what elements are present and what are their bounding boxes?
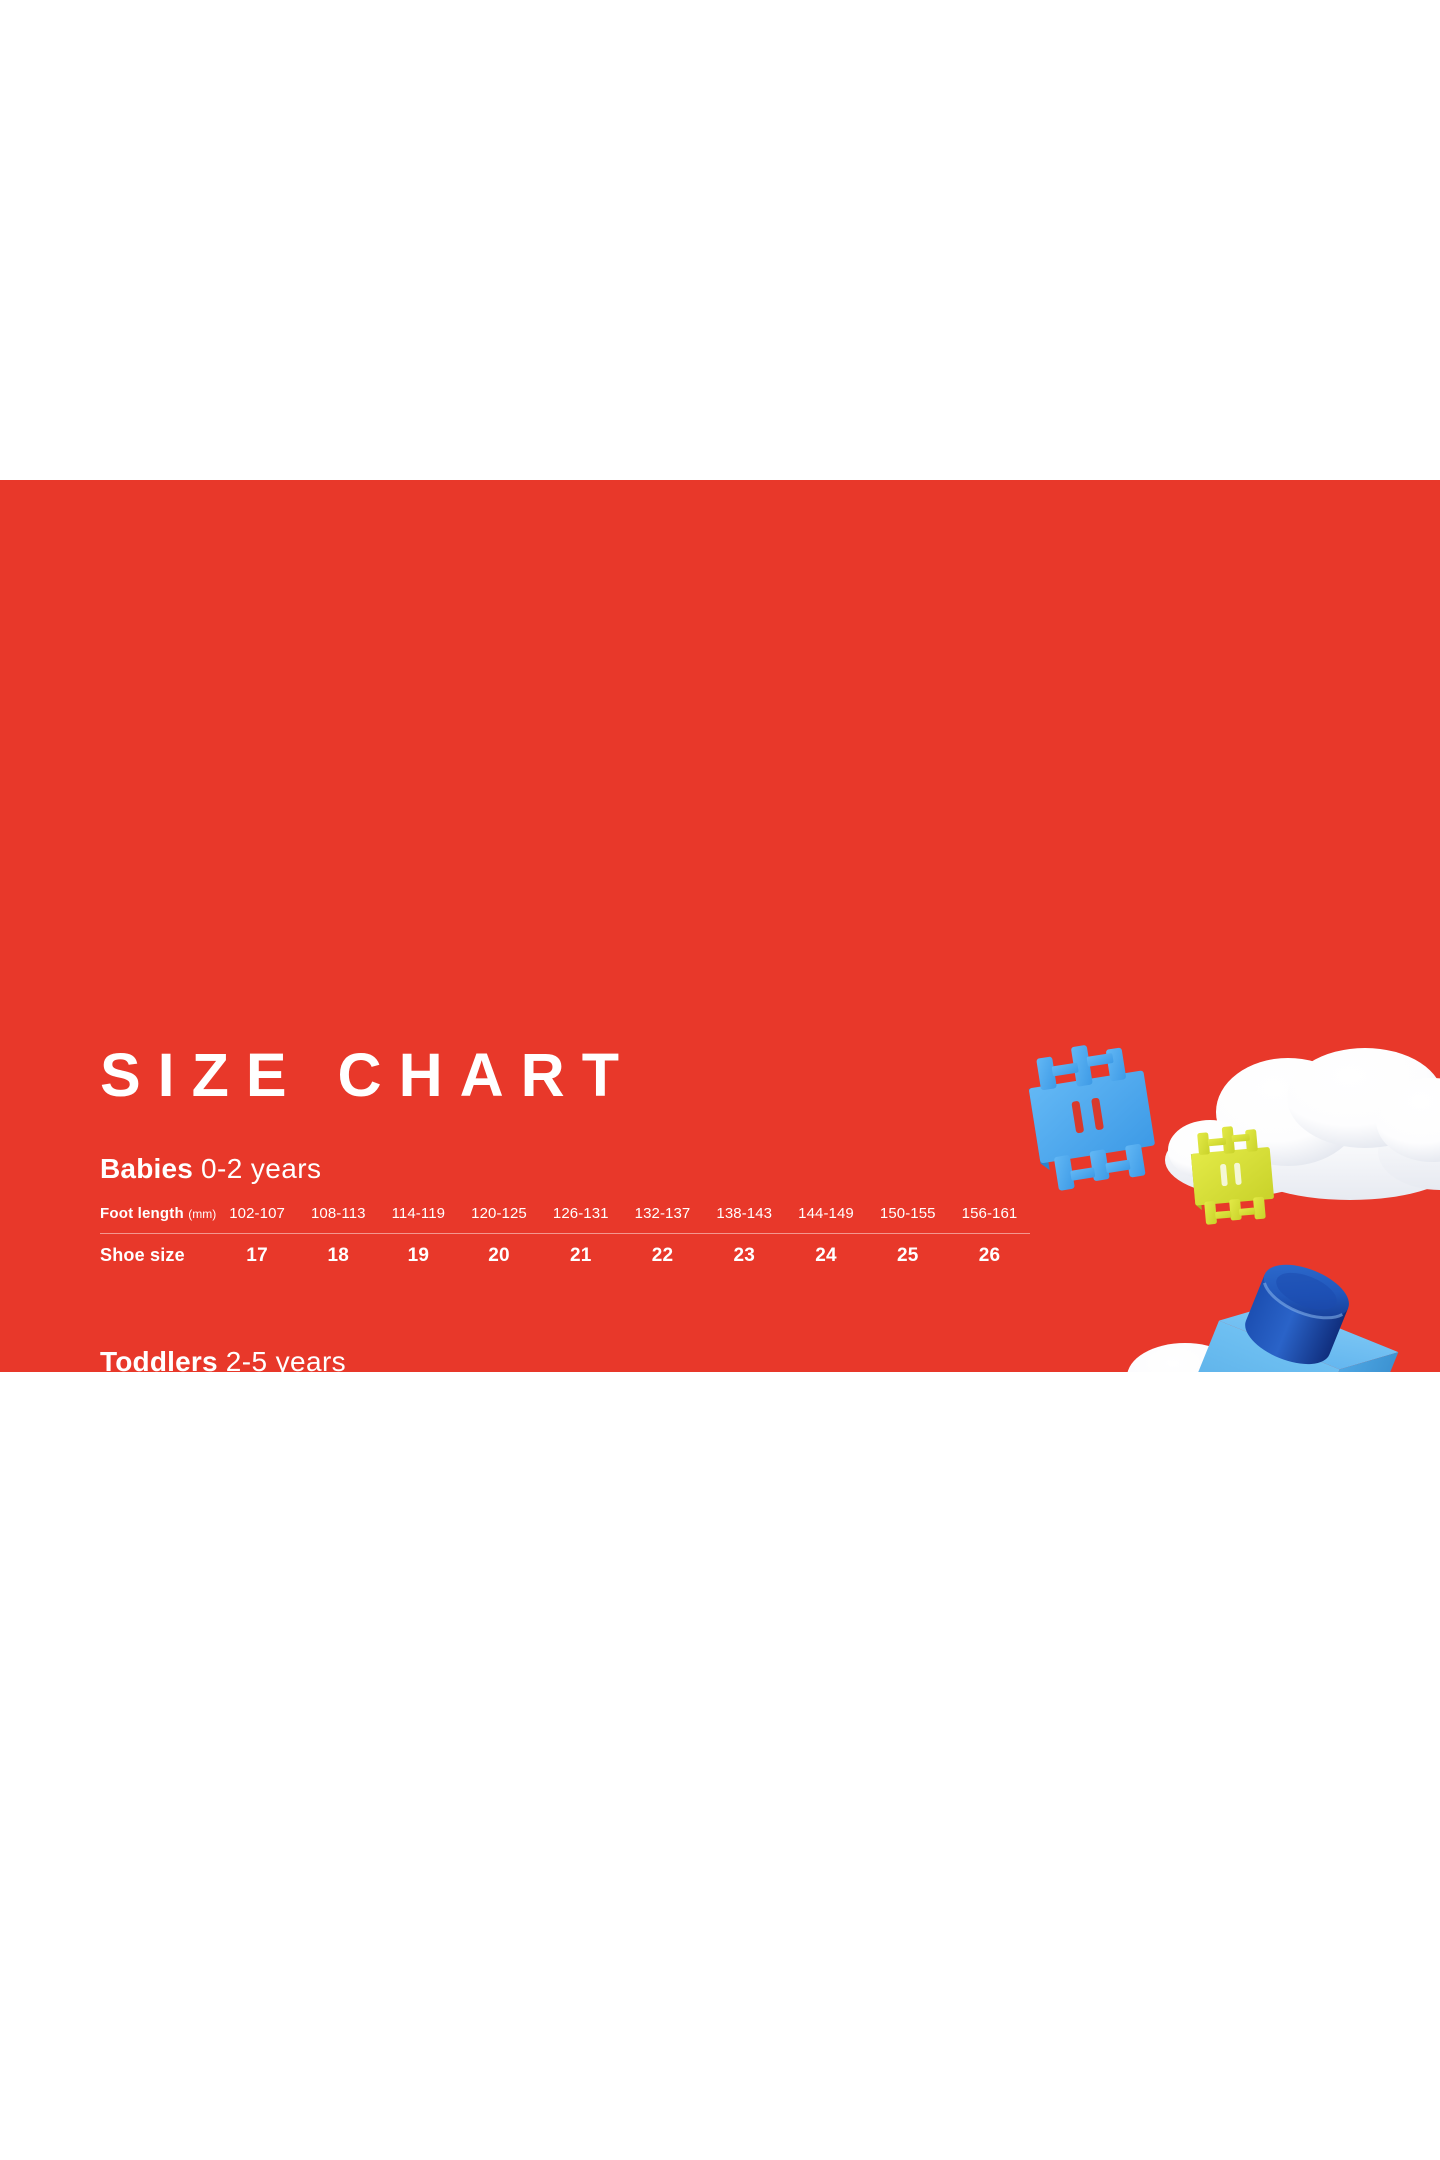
cell-foot-length: 150-155	[867, 1203, 949, 1234]
table-row-foot-length: Foot length (mm) 102-107 108-113 114-119…	[100, 1203, 1030, 1234]
row-label-shoe-size: Shoe size	[100, 1234, 216, 1270]
cell-shoe-size: 20	[458, 1234, 540, 1270]
cell-shoe-size: 21	[540, 1234, 622, 1270]
cube-decoration	[1070, 1240, 1440, 1372]
cell-shoe-size: 18	[298, 1234, 379, 1270]
hash-block-blue-icon	[1019, 1032, 1176, 1201]
section-toddlers: Toddlers2-5 years Foot length (mm) 162-1…	[100, 1348, 952, 1372]
cell-shoe-size: 26	[949, 1234, 1031, 1270]
table-row-shoe-size: Shoe size 17 18 19 20 21 22 23 24 25 26	[100, 1234, 1030, 1270]
cell-foot-length: 132-137	[622, 1203, 704, 1234]
section-group-label: Babies	[100, 1153, 193, 1184]
section-babies: Babies0-2 years Foot length (mm) 102-107…	[100, 1155, 1030, 1269]
cell-foot-length: 138-143	[703, 1203, 785, 1234]
cloud-decoration-top	[1150, 1040, 1440, 1205]
cell-foot-length: 144-149	[785, 1203, 867, 1234]
cell-foot-length: 156-161	[949, 1203, 1031, 1234]
size-chart-panel: SIZE CHART Babies0-2 years Foot length (…	[0, 480, 1440, 1372]
cell-foot-length: 114-119	[379, 1203, 459, 1234]
row-label-foot-length: Foot length (mm)	[100, 1203, 216, 1234]
cell-shoe-size: 24	[785, 1234, 867, 1270]
row-label-foot-length-unit: (mm)	[188, 1207, 216, 1221]
cloud-decoration-bottom	[1080, 1325, 1330, 1372]
section-heading-toddlers: Toddlers2-5 years	[100, 1348, 952, 1372]
cell-foot-length: 102-107	[216, 1203, 298, 1234]
cell-foot-length: 108-113	[298, 1203, 379, 1234]
section-age-label: 0-2 years	[201, 1153, 321, 1184]
cell-shoe-size: 23	[703, 1234, 785, 1270]
cell-shoe-size: 22	[622, 1234, 704, 1270]
cell-foot-length: 120-125	[458, 1203, 540, 1234]
row-label-foot-length-text: Foot length	[100, 1205, 184, 1222]
page-title: SIZE CHART	[100, 1045, 636, 1106]
cell-shoe-size: 17	[216, 1234, 298, 1270]
cell-shoe-size: 19	[379, 1234, 459, 1270]
hash-block-yellow-icon	[1186, 1121, 1287, 1231]
section-heading-babies: Babies0-2 years	[100, 1155, 1030, 1183]
section-group-label: Toddlers	[100, 1346, 218, 1372]
cell-shoe-size: 25	[867, 1234, 949, 1270]
cell-foot-length: 126-131	[540, 1203, 622, 1234]
size-table-babies: Foot length (mm) 102-107 108-113 114-119…	[100, 1203, 1030, 1269]
section-age-label: 2-5 years	[226, 1346, 346, 1372]
